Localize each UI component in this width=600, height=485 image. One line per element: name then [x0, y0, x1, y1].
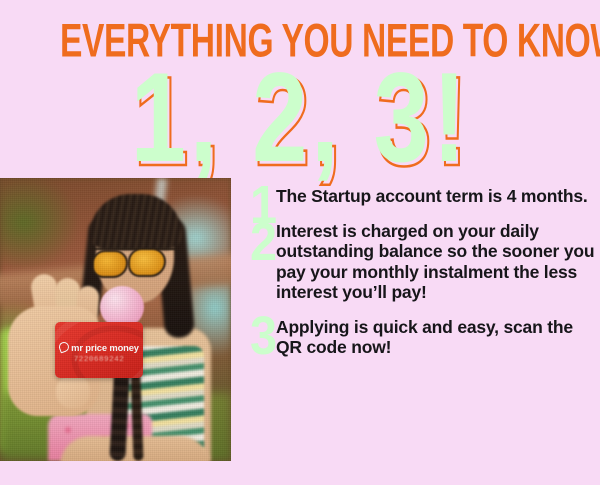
list-item: 3 Applying is quick and easy, scan the Q…	[252, 317, 596, 358]
headline-line-2: 1, 2, 3! 1, 2, 3!	[0, 56, 600, 148]
photo-sunglasses-lens-right	[128, 248, 166, 277]
step-text-2: Interest is charged on your daily outsta…	[276, 221, 596, 303]
list-item: 2 Interest is charged on your daily outs…	[252, 221, 596, 303]
woman-holding-card-photo: mr price money 7220689242	[0, 178, 231, 461]
step-text-3: Applying is quick and easy, scan the QR …	[276, 317, 596, 358]
mr-price-money-card: mr price money 7220689242	[55, 322, 143, 378]
card-brand-text: mr price money	[71, 342, 139, 353]
headline-123-fill: 1, 2, 3!	[24, 56, 576, 179]
headline-block: EVERYTHING YOU NEED TO KNOW IN 1, 2, 3! …	[0, 16, 600, 148]
photo-thumb	[56, 374, 90, 408]
step-number-3: 3	[250, 309, 277, 363]
mr-price-money-logo-icon	[58, 341, 71, 354]
photo-sunglasses-lens-left	[92, 250, 128, 278]
card-number: 7220689242	[55, 356, 143, 364]
step-text-1: The Startup account term is 4 months.	[276, 186, 596, 207]
steps-list: 1 The Startup account term is 4 months. …	[252, 186, 596, 372]
list-item: 1 The Startup account term is 4 months.	[252, 186, 596, 207]
promo-poster: EVERYTHING YOU NEED TO KNOW IN 1, 2, 3! …	[0, 0, 600, 485]
card-brand-lockup: mr price money	[55, 341, 143, 353]
step-number-2: 2	[250, 215, 277, 269]
